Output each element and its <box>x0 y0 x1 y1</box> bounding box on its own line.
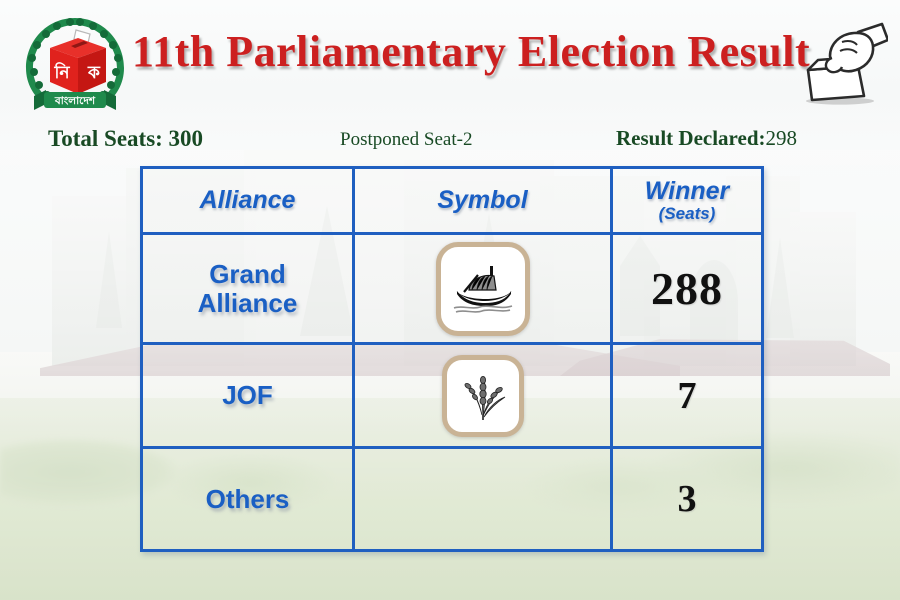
cell-winner-seats: 3 <box>613 449 761 549</box>
symbol-tile-sheaf-of-paddy <box>442 355 524 437</box>
alliance-label-grand-alliance: GrandAlliance <box>198 260 298 317</box>
result-declared-value: 298 <box>766 126 798 150</box>
alliance-label-others: Others <box>206 485 290 514</box>
table-row: GrandAlliance <box>143 235 761 345</box>
total-seats-stat: Total Seats: 300 <box>48 126 203 152</box>
summary-stats: Total Seats: 300 Postponed Seat-2 Result… <box>0 126 900 156</box>
hand-casting-ballot-icon <box>796 22 888 106</box>
cell-winner-seats: 288 <box>613 235 761 342</box>
alliance-label-jof: JOF <box>222 381 273 410</box>
symbol-tile-boat <box>436 242 530 336</box>
election-result-graphic: নি ক বাংলাদেশ 11th Parliamentary Electio… <box>0 0 900 600</box>
winner-seats-value: 7 <box>678 374 697 418</box>
table-header-row: Alliance Symbol Winner(Seats) <box>143 169 761 235</box>
results-table: Alliance Symbol Winner(Seats) GrandAllia… <box>140 166 764 552</box>
page-title: 11th Parliamentary Election Result <box>132 26 792 77</box>
column-header-symbol-label: Symbol <box>437 187 527 213</box>
cell-alliance-name: JOF <box>143 345 355 446</box>
cell-symbol-empty <box>355 449 613 549</box>
column-header-symbol: Symbol <box>355 169 613 232</box>
cell-alliance-name: GrandAlliance <box>143 235 355 342</box>
logo-box-glyph-left: নি <box>53 61 70 82</box>
cell-winner-seats: 7 <box>613 345 761 446</box>
column-header-winner: Winner(Seats) <box>613 169 761 232</box>
postponed-seat-stat: Postponed Seat-2 <box>340 129 472 151</box>
no-symbol-placeholder <box>482 499 483 500</box>
logo-box-glyph-right: ক <box>87 63 101 82</box>
alliance-label-line2: Alliance <box>198 288 298 318</box>
column-header-alliance-label: Alliance <box>200 187 296 213</box>
sheaf-of-paddy-icon <box>458 371 508 421</box>
boat-icon <box>452 264 514 314</box>
table-row: Others 3 <box>143 449 761 549</box>
winner-seats-value: 3 <box>678 477 697 521</box>
alliance-label-line1: Grand <box>209 259 286 289</box>
column-header-winner-label: Winner(Seats) <box>645 178 730 222</box>
logo-banner-text: বাংলাদেশ <box>54 95 96 107</box>
cell-symbol <box>355 235 613 342</box>
result-declared-stat: Result Declared:298 <box>616 126 797 151</box>
cell-alliance-name: Others <box>143 449 355 549</box>
cell-symbol <box>355 345 613 446</box>
column-header-winner-sublabel: (Seats) <box>645 205 730 223</box>
result-declared-label: Result Declared: <box>616 126 766 150</box>
bangladesh-election-commission-logo: নি ক বাংলাদেশ <box>16 12 134 116</box>
winner-seats-value: 288 <box>651 262 723 315</box>
column-header-alliance: Alliance <box>143 169 355 232</box>
table-row: JOF <box>143 345 761 449</box>
header: নি ক বাংলাদেশ 11th Parliamentary Electio… <box>0 0 900 120</box>
